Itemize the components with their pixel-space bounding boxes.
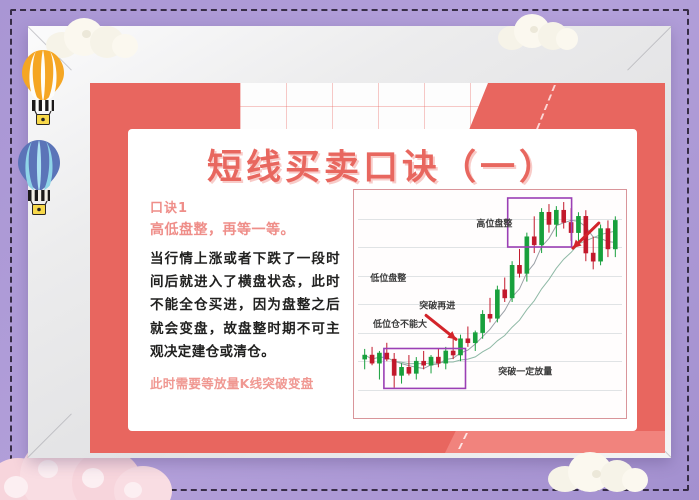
candle-series <box>363 202 618 388</box>
body-paragraph: 当行情上涨或者下跌了一段时间后就进入了横盘状态，此时不能全仓买进，因为盘整之后就… <box>150 248 340 364</box>
text-column: 口诀1 高低盘整，再等一等。 当行情上涨或者下跌了一段时间后就进入了横盘状态，此… <box>150 197 340 392</box>
page-title: 短线买卖口诀（一） <box>128 139 637 190</box>
poster-stage: 短线买卖口诀（一） 口诀1 高低盘整，再等一等。 当行情上涨或者下跌了一段时间后… <box>0 0 699 500</box>
chart-annotation-breakout-then-enter: 突破再进 <box>419 300 455 312</box>
diagonal-band <box>469 83 665 131</box>
chart-canvas: 高位盘整低位盘整突破再进低位仓不能大突破一定放量 <box>354 190 626 418</box>
balloon-blue-svg <box>16 138 62 216</box>
cloud-white-top-right <box>498 12 578 50</box>
chart-annotation-low-level-consolidation: 低位盘整 <box>369 272 406 284</box>
chart-annotation-keep-position-small-at-lows: 低位仓不能大 <box>372 318 427 330</box>
chart-annotation-high-level-consolidation: 高位盘整 <box>476 218 512 230</box>
cloud-cream-bottom-right <box>548 450 648 492</box>
hot-air-balloon-blue <box>16 138 62 216</box>
hot-air-balloon-orange <box>20 48 66 126</box>
balloon-orange-svg <box>20 48 66 126</box>
kouju-label: 口诀1 <box>150 197 340 216</box>
coral-panel: 短线买卖口诀（一） 口诀1 高低盘整，再等一等。 当行情上涨或者下跌了一段时间后… <box>90 83 665 453</box>
kouju-subtitle: 高低盘整，再等一等。 <box>150 219 340 239</box>
candlestick-chart: 高位盘整低位盘整突破再进低位仓不能大突破一定放量 <box>353 189 627 419</box>
content-card: 短线买卖口诀（一） 口诀1 高低盘整，再等一等。 当行情上涨或者下跌了一段时间后… <box>128 129 637 431</box>
chart-annotation-breakout-needs-volume: 突破一定放量 <box>498 366 552 378</box>
photo-frame: 短线买卖口诀（一） 口诀1 高低盘整，再等一等。 当行情上涨或者下跌了一段时间后… <box>28 26 671 458</box>
footnote-text: 此时需要等放量K线突破变盘 <box>150 373 340 392</box>
